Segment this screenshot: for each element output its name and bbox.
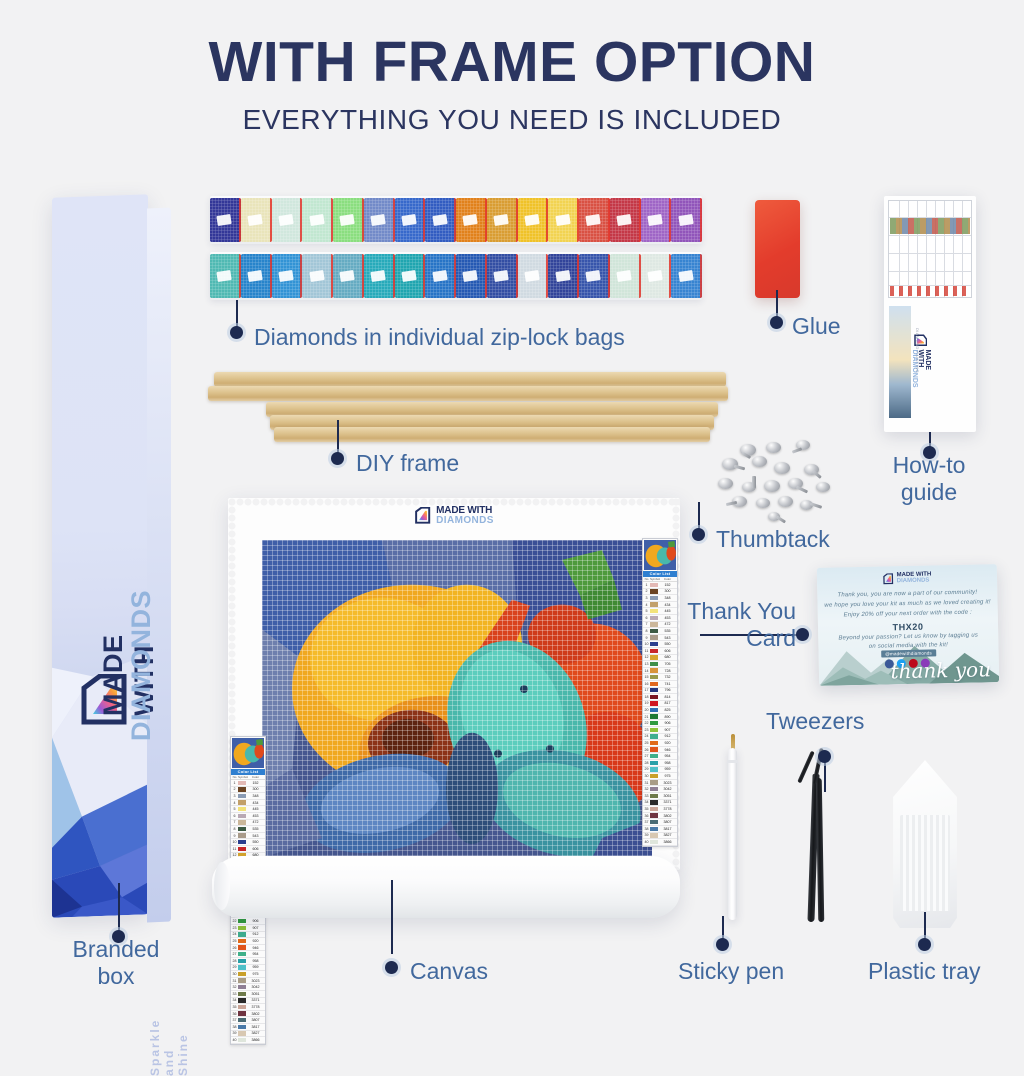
card-brand-logo: MADE WITH DIAMONDS <box>883 573 932 585</box>
color-row-swatch <box>650 827 658 831</box>
color-row-code: 728 <box>658 669 677 673</box>
color-row-index: 15 <box>643 675 650 679</box>
bag-label <box>370 214 385 226</box>
zip-lock-bag <box>241 198 272 242</box>
color-list-row: 27954 <box>231 951 265 958</box>
color-row-swatch <box>238 794 246 798</box>
color-row-index: 4 <box>643 603 650 607</box>
page-title: WITH FRAME OPTION <box>0 34 1024 91</box>
bag-label <box>678 214 693 226</box>
zip-lock-bag <box>425 254 456 298</box>
color-row-swatch <box>238 827 246 831</box>
zip-lock-bag <box>302 198 333 242</box>
color-row-code: 907 <box>246 926 265 930</box>
color-row-code: 741 <box>658 682 677 686</box>
color-list-row: 2300 <box>643 589 677 596</box>
color-row-index: 11 <box>643 649 650 653</box>
color-list-row: 26946 <box>643 747 677 754</box>
color-row-index: 39 <box>231 1031 238 1035</box>
bag-zip-seal <box>700 198 702 242</box>
color-row-index: 20 <box>643 708 650 712</box>
bag-label <box>309 270 324 282</box>
color-row-code: 152 <box>658 583 677 587</box>
color-row-index: 36 <box>231 1012 238 1016</box>
color-row-swatch <box>650 635 658 639</box>
color-row-swatch <box>650 596 658 600</box>
color-row-index: 17 <box>643 688 650 692</box>
color-row-swatch <box>238 972 246 976</box>
bag-label <box>524 270 539 282</box>
card-text-line-3: Enjoy 20% off your next order with the c… <box>818 609 998 619</box>
zip-lock-bag <box>518 198 549 242</box>
color-row-swatch <box>238 985 246 989</box>
color-row-code: 975 <box>658 774 677 778</box>
callout-diy-frame: DIY frame <box>356 450 459 477</box>
bag-row-top <box>210 196 702 244</box>
color-row-code: 348 <box>246 794 265 798</box>
color-row-index: 29 <box>643 767 650 771</box>
zip-lock-bag <box>456 254 487 298</box>
color-list-row: 383817 <box>231 1024 265 1031</box>
color-row-code: 472 <box>246 820 265 824</box>
color-row-swatch <box>238 965 246 969</box>
zip-lock-bag <box>272 254 303 298</box>
color-row-code: 535 <box>246 827 265 831</box>
color-row-index: 14 <box>643 669 650 673</box>
color-row-swatch <box>650 602 658 606</box>
color-row-swatch <box>238 833 246 837</box>
color-row-index: 7 <box>643 622 650 626</box>
box-brand-line2: DIAMONDS <box>126 590 157 741</box>
color-row-index: 30 <box>643 774 650 778</box>
color-row-swatch <box>650 833 658 837</box>
color-list-row: 2300 <box>231 787 265 794</box>
color-row-swatch <box>238 1005 246 1009</box>
color-row-index: 29 <box>231 965 238 969</box>
color-row-code: 434 <box>246 801 265 805</box>
color-row-code: 954 <box>246 952 265 956</box>
color-row-code: 3807 <box>246 1018 265 1022</box>
color-row-code: 958 <box>658 761 677 765</box>
color-row-index: 32 <box>231 985 238 989</box>
thank-you-card: MADE WITH DIAMONDS Thank you, you are no… <box>817 564 999 686</box>
glue-block <box>755 200 800 298</box>
color-list-row: 23907 <box>643 727 677 734</box>
color-list-row: 363802 <box>643 813 677 820</box>
lead-diy-frame <box>337 420 339 456</box>
lead-tweezers <box>824 762 826 792</box>
color-row-swatch <box>650 754 658 758</box>
color-row-index: 31 <box>643 781 650 785</box>
color-row-swatch <box>650 583 658 587</box>
color-list-row: 20825 <box>643 707 677 714</box>
color-row-swatch <box>238 840 246 844</box>
color-row-swatch <box>238 932 246 936</box>
color-row-swatch <box>238 814 246 818</box>
color-list-row: 22906 <box>231 918 265 925</box>
color-row-index: 35 <box>643 807 650 811</box>
bag-label <box>555 270 570 282</box>
color-list-row: 353778 <box>231 1004 265 1011</box>
color-row-index: 37 <box>643 820 650 824</box>
color-row-code: 3817 <box>658 827 677 831</box>
zip-lock-bag <box>395 198 426 242</box>
color-row-swatch <box>238 945 246 949</box>
zip-lock-bag <box>518 254 549 298</box>
color-row-index: 12 <box>643 655 650 659</box>
color-row-index: 16 <box>643 682 650 686</box>
zip-lock-bag <box>610 198 641 242</box>
color-row-index: 38 <box>643 827 650 831</box>
canvas-rolled-bottom <box>212 856 680 918</box>
color-list-row: 4434 <box>231 800 265 807</box>
zip-lock-bag <box>302 254 333 298</box>
zip-lock-bag <box>548 198 579 242</box>
color-row-index: 22 <box>643 721 650 725</box>
card-logo-line2: DIAMONDS <box>897 578 932 584</box>
zip-lock-bag <box>671 254 702 298</box>
pen-ring <box>727 760 738 763</box>
color-row-index: 2 <box>643 589 650 593</box>
color-row-code: 3023 <box>658 781 677 785</box>
color-list-row: 373807 <box>643 819 677 826</box>
color-row-swatch <box>238 781 246 785</box>
dot-thumbtack <box>692 528 705 541</box>
color-row-swatch <box>650 794 658 798</box>
color-row-swatch <box>238 978 246 982</box>
callout-glue: Glue <box>792 313 841 340</box>
bag-label <box>678 270 693 282</box>
diamond-zip-lock-bags <box>210 196 702 306</box>
bag-label <box>463 270 478 282</box>
color-row-index: 40 <box>643 840 650 844</box>
color-row-index: 3 <box>231 794 238 798</box>
color-row-index: 9 <box>231 834 238 838</box>
color-row-swatch <box>650 616 658 620</box>
color-list-row: 13705 <box>643 661 677 668</box>
color-row-index: 35 <box>231 1005 238 1009</box>
color-list-row: 1152 <box>643 582 677 589</box>
color-row-swatch <box>650 807 658 811</box>
color-row-index: 27 <box>643 754 650 758</box>
color-row-code: 958 <box>246 959 265 963</box>
bag-label <box>432 214 447 226</box>
color-row-index: 5 <box>231 807 238 811</box>
color-row-index: 2 <box>231 787 238 791</box>
color-list-row: 30975 <box>643 773 677 780</box>
zip-lock-bag <box>395 254 426 298</box>
color-row-index: 6 <box>231 814 238 818</box>
color-row-code: 912 <box>658 734 677 738</box>
color-row-index: 10 <box>643 642 650 646</box>
color-row-index: 7 <box>231 820 238 824</box>
callout-plastic-tray: Plastic tray <box>868 958 980 985</box>
color-list-row: 343371 <box>643 800 677 807</box>
color-list-row: 373807 <box>231 1017 265 1024</box>
color-row-code: 152 <box>246 781 265 785</box>
bag-label <box>309 214 324 226</box>
color-row-swatch <box>238 800 246 804</box>
color-row-swatch <box>650 695 658 699</box>
color-list-row: 333051 <box>231 991 265 998</box>
guide-landscape-photo <box>889 306 911 418</box>
color-row-swatch <box>650 747 658 751</box>
color-row-index: 39 <box>643 833 650 837</box>
color-list-row: 14728 <box>643 668 677 675</box>
callout-diamonds: Diamonds in individual zip-lock bags <box>254 324 625 351</box>
callout-thumbtack: Thumbtack <box>716 526 830 553</box>
color-list-right: Color List No Symbol Color 1152230033484… <box>642 538 678 847</box>
color-list-row: 10550 <box>231 839 265 846</box>
color-row-code: 946 <box>246 946 265 950</box>
guide-brand-logo: MADE WITH DIAMONDS <box>910 334 930 388</box>
color-row-swatch <box>238 998 246 1002</box>
color-row-index: 26 <box>643 748 650 752</box>
dot-thank-you-card <box>796 628 809 641</box>
zip-lock-bag <box>210 198 241 242</box>
zip-lock-bag <box>425 198 456 242</box>
dot-plastic-tray <box>918 938 931 951</box>
color-row-swatch <box>650 721 658 725</box>
zip-lock-bag <box>487 254 518 298</box>
color-row-code: 3827 <box>246 1031 265 1035</box>
color-row-index: 25 <box>231 939 238 943</box>
color-row-code: 3371 <box>658 800 677 804</box>
color-list-row: 6453 <box>231 813 265 820</box>
color-row-swatch <box>650 649 658 653</box>
zip-lock-bag <box>548 254 579 298</box>
bag-zip-seal <box>700 254 702 298</box>
zip-lock-bag <box>456 198 487 242</box>
color-list-row: 323042 <box>231 984 265 991</box>
color-row-index: 23 <box>231 926 238 930</box>
color-list-row: 1152 <box>231 780 265 787</box>
tray-ribs <box>900 815 950 911</box>
color-row-index: 18 <box>643 695 650 699</box>
color-list-row: 29959 <box>643 767 677 774</box>
bag-label <box>278 270 293 282</box>
color-list-row: 21890 <box>643 714 677 721</box>
color-row-swatch <box>238 952 246 956</box>
color-row-code: 732 <box>658 675 677 679</box>
color-row-code: 3802 <box>658 814 677 818</box>
color-list-row: 11606 <box>231 846 265 853</box>
color-row-index: 19 <box>643 701 650 705</box>
color-row-index: 5 <box>643 609 650 613</box>
bag-label <box>247 270 262 282</box>
color-list-row: 15732 <box>643 674 677 681</box>
bag-label <box>493 214 508 226</box>
bag-label <box>493 270 508 282</box>
callout-sticky-pen: Sticky pen <box>678 958 784 985</box>
bag-label <box>401 214 416 226</box>
color-row-swatch <box>650 668 658 672</box>
color-row-swatch <box>650 840 658 844</box>
color-row-index: 1 <box>231 781 238 785</box>
color-row-index: 34 <box>643 800 650 804</box>
bag-label <box>340 270 355 282</box>
color-row-code: 912 <box>246 932 265 936</box>
color-list-row: 12680 <box>643 655 677 662</box>
color-list-row: 18814 <box>643 694 677 701</box>
color-row-index: 21 <box>643 715 650 719</box>
color-list-row: 403866 <box>643 839 677 846</box>
color-row-code: 3827 <box>658 833 677 837</box>
color-row-swatch <box>650 688 658 692</box>
guide-color-chart-table <box>888 200 972 298</box>
color-list-row: 313023 <box>643 780 677 787</box>
bag-label <box>217 214 232 226</box>
color-row-index: 25 <box>643 741 650 745</box>
color-row-swatch <box>650 734 658 738</box>
color-list-row: 24912 <box>231 932 265 939</box>
color-row-code: 3042 <box>246 985 265 989</box>
color-row-swatch <box>650 629 658 633</box>
plastic-tray <box>868 760 982 928</box>
color-list-row: 25920 <box>231 938 265 945</box>
zip-lock-bag <box>579 198 610 242</box>
bag-label <box>524 214 539 226</box>
color-row-swatch <box>238 847 246 851</box>
color-row-swatch <box>650 655 658 659</box>
color-row-code: 920 <box>246 939 265 943</box>
color-list-row: 7472 <box>231 820 265 827</box>
color-row-code: 954 <box>658 754 677 758</box>
color-list-row: 393827 <box>231 1031 265 1038</box>
color-list-row: 28958 <box>643 760 677 767</box>
color-list-row: 9543 <box>231 833 265 840</box>
color-row-code: 907 <box>658 728 677 732</box>
zip-lock-bag <box>671 198 702 242</box>
color-row-swatch <box>238 807 246 811</box>
color-row-swatch <box>650 780 658 784</box>
color-row-index: 8 <box>643 629 650 633</box>
color-list-thumbnail-right <box>644 540 676 570</box>
pen-body <box>728 748 737 920</box>
color-list-row: 19817 <box>643 701 677 708</box>
bag-label <box>370 270 385 282</box>
color-row-swatch <box>238 1031 246 1035</box>
color-row-swatch <box>650 622 658 626</box>
bag-label <box>555 214 570 226</box>
zip-lock-bag <box>579 254 610 298</box>
color-list-row: 26946 <box>231 945 265 952</box>
color-row-code: 543 <box>246 834 265 838</box>
color-row-code: 3817 <box>246 1025 265 1029</box>
zip-lock-bag <box>364 254 395 298</box>
branded-box: MADE WITH DIAMONDS Sparkle and Shine <box>52 196 172 916</box>
color-row-swatch <box>238 992 246 996</box>
color-row-code: 606 <box>246 847 265 851</box>
color-row-code: 3866 <box>658 840 677 844</box>
color-row-index: 3 <box>643 596 650 600</box>
bag-label <box>647 270 662 282</box>
color-row-code: 705 <box>658 662 677 666</box>
lead-branded-box <box>118 883 120 935</box>
color-row-code: 3778 <box>246 1005 265 1009</box>
color-list-row: 17796 <box>643 688 677 695</box>
color-row-code: 975 <box>246 972 265 976</box>
dot-tweezers <box>818 750 831 763</box>
canvas-brand-logo: MADE WITH DIAMONDS <box>414 506 494 525</box>
canvas-bead-grid <box>262 540 652 858</box>
color-row-swatch <box>650 708 658 712</box>
color-row-code: 959 <box>658 767 677 771</box>
color-row-index: 31 <box>231 979 238 983</box>
zip-lock-bag <box>333 254 364 298</box>
dot-canvas <box>385 961 398 974</box>
bag-label <box>586 270 601 282</box>
callout-tweezers: Tweezers <box>766 708 864 735</box>
color-row-swatch <box>650 820 658 824</box>
color-row-swatch <box>650 800 658 804</box>
color-list-thumbnail-left <box>232 738 264 768</box>
color-row-code: 825 <box>658 708 677 712</box>
color-row-index: 22 <box>231 919 238 923</box>
color-list-row: 27954 <box>643 753 677 760</box>
color-list-row: 383817 <box>643 826 677 833</box>
zip-lock-bag <box>241 254 272 298</box>
zip-lock-bag <box>610 254 641 298</box>
color-row-index: 9 <box>643 636 650 640</box>
color-row-code: 946 <box>658 748 677 752</box>
color-row-index: 34 <box>231 998 238 1002</box>
canvas-logo-line2: DIAMONDS <box>436 516 494 526</box>
bag-label <box>340 214 355 226</box>
thumbtacks-group <box>712 440 852 532</box>
color-row-index: 32 <box>643 787 650 791</box>
how-to-guide-sheet: MADE WITH DIAMONDS DIAMOND PAINTING <box>884 196 976 432</box>
color-row-swatch <box>650 662 658 666</box>
infographic-stage: WITH FRAME OPTION EVERYTHING YOU NEED IS… <box>0 0 1024 1024</box>
canvas-artwork <box>262 540 652 858</box>
bag-label <box>247 214 262 226</box>
bag-label <box>217 270 232 282</box>
color-row-index: 24 <box>643 734 650 738</box>
color-row-swatch <box>238 939 246 943</box>
card-social-handle: @madewithdiamonds <box>881 649 936 657</box>
color-row-code: 3802 <box>246 1012 265 1016</box>
color-row-swatch <box>650 774 658 778</box>
color-row-code: 3371 <box>246 998 265 1002</box>
color-row-index: 4 <box>231 801 238 805</box>
zip-lock-bag <box>641 198 672 242</box>
box-side-face <box>147 208 171 923</box>
color-row-swatch <box>650 813 658 817</box>
color-list-row: 24912 <box>643 734 677 741</box>
color-row-index: 30 <box>231 972 238 976</box>
color-list-row: 313023 <box>231 978 265 985</box>
color-list-row: 25920 <box>643 740 677 747</box>
color-list-row: 393827 <box>643 833 677 840</box>
color-row-code: 3866 <box>246 1038 265 1042</box>
zip-lock-bag <box>487 198 518 242</box>
color-list-row: 343371 <box>231 998 265 1005</box>
bag-row-bottom <box>210 252 702 300</box>
lead-thumbtack <box>698 502 700 530</box>
color-list-row: 28958 <box>231 958 265 965</box>
color-row-code: 906 <box>658 721 677 725</box>
color-row-swatch <box>650 682 658 686</box>
color-row-swatch <box>238 820 246 824</box>
color-row-index: 37 <box>231 1018 238 1022</box>
diy-wooden-frame <box>208 370 728 442</box>
bag-label <box>616 214 631 226</box>
color-row-code: 920 <box>658 741 677 745</box>
color-row-index: 33 <box>231 992 238 996</box>
box-front-face <box>52 194 148 918</box>
page-subtitle: EVERYTHING YOU NEED IS INCLUDED <box>0 106 1024 134</box>
